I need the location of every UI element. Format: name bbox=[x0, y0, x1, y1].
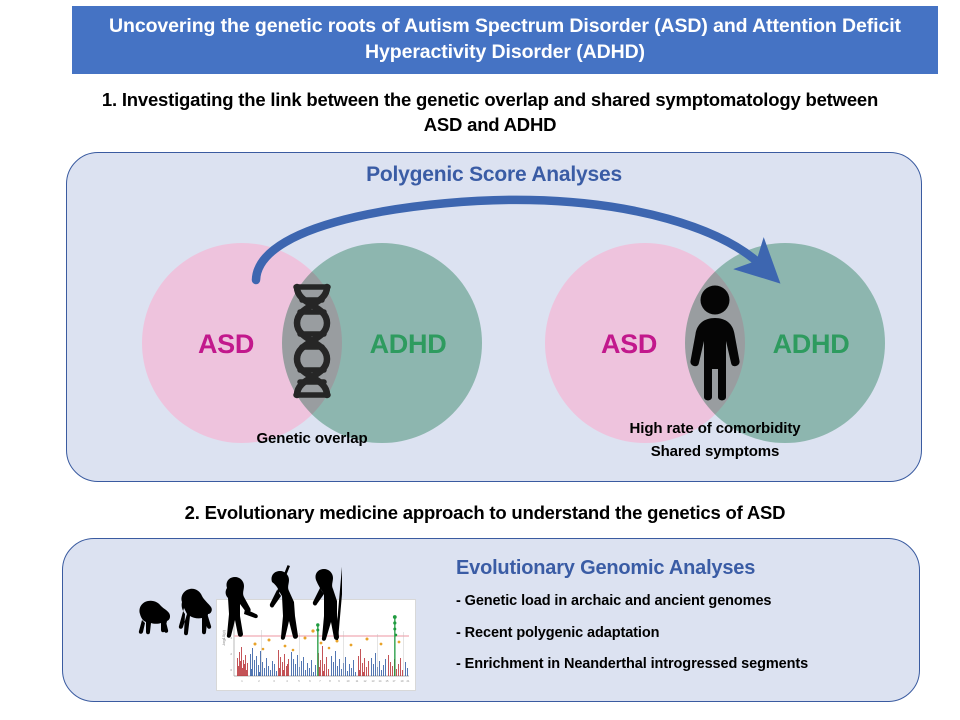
venn-label-asd: ASD bbox=[168, 329, 284, 360]
graphical-abstract: Uncovering the genetic roots of Autism S… bbox=[0, 0, 960, 720]
list-item: - Genetic load in archaic and ancient ge… bbox=[456, 594, 906, 609]
section-2-heading: 2. Evolutionary medicine approach to und… bbox=[80, 501, 890, 526]
dna-helix-icon bbox=[282, 265, 342, 421]
poster-title-bar: Uncovering the genetic roots of Autism S… bbox=[72, 6, 938, 74]
venn-caption-comorbidity: High rate of comorbidity Shared symptoms bbox=[545, 418, 885, 463]
list-item: - Recent polygenic adaptation bbox=[456, 626, 906, 641]
venn-label-asd: ASD bbox=[571, 329, 687, 360]
venn-diagram-genetic-overlap: ASD ADHD bbox=[142, 243, 482, 443]
evolutionary-panel-title: Evolutionary Genomic Analyses bbox=[456, 557, 755, 580]
venn-diagram-comorbidity: ASD ADHD bbox=[545, 243, 885, 443]
evolutionary-bullet-list: - Genetic load in archaic and ancient ge… bbox=[456, 594, 906, 689]
caption-line: High rate of comorbidity bbox=[545, 418, 885, 441]
venn-caption-genetic-overlap: Genetic overlap bbox=[142, 428, 482, 451]
caption-line: Shared symptoms bbox=[545, 441, 885, 464]
polygenic-panel-title: Polygenic Score Analyses bbox=[66, 163, 922, 187]
list-item: - Enrichment in Neanderthal introgressed… bbox=[456, 657, 906, 672]
venn-label-adhd: ADHD bbox=[340, 329, 476, 360]
section-1-heading: 1. Investigating the link between the ge… bbox=[100, 88, 880, 138]
person-icon bbox=[685, 265, 745, 421]
venn-label-adhd: ADHD bbox=[743, 329, 879, 360]
caption-line: Genetic overlap bbox=[142, 428, 482, 451]
poster-title: Uncovering the genetic roots of Autism S… bbox=[86, 14, 924, 65]
human-evolution-icon bbox=[132, 552, 342, 654]
